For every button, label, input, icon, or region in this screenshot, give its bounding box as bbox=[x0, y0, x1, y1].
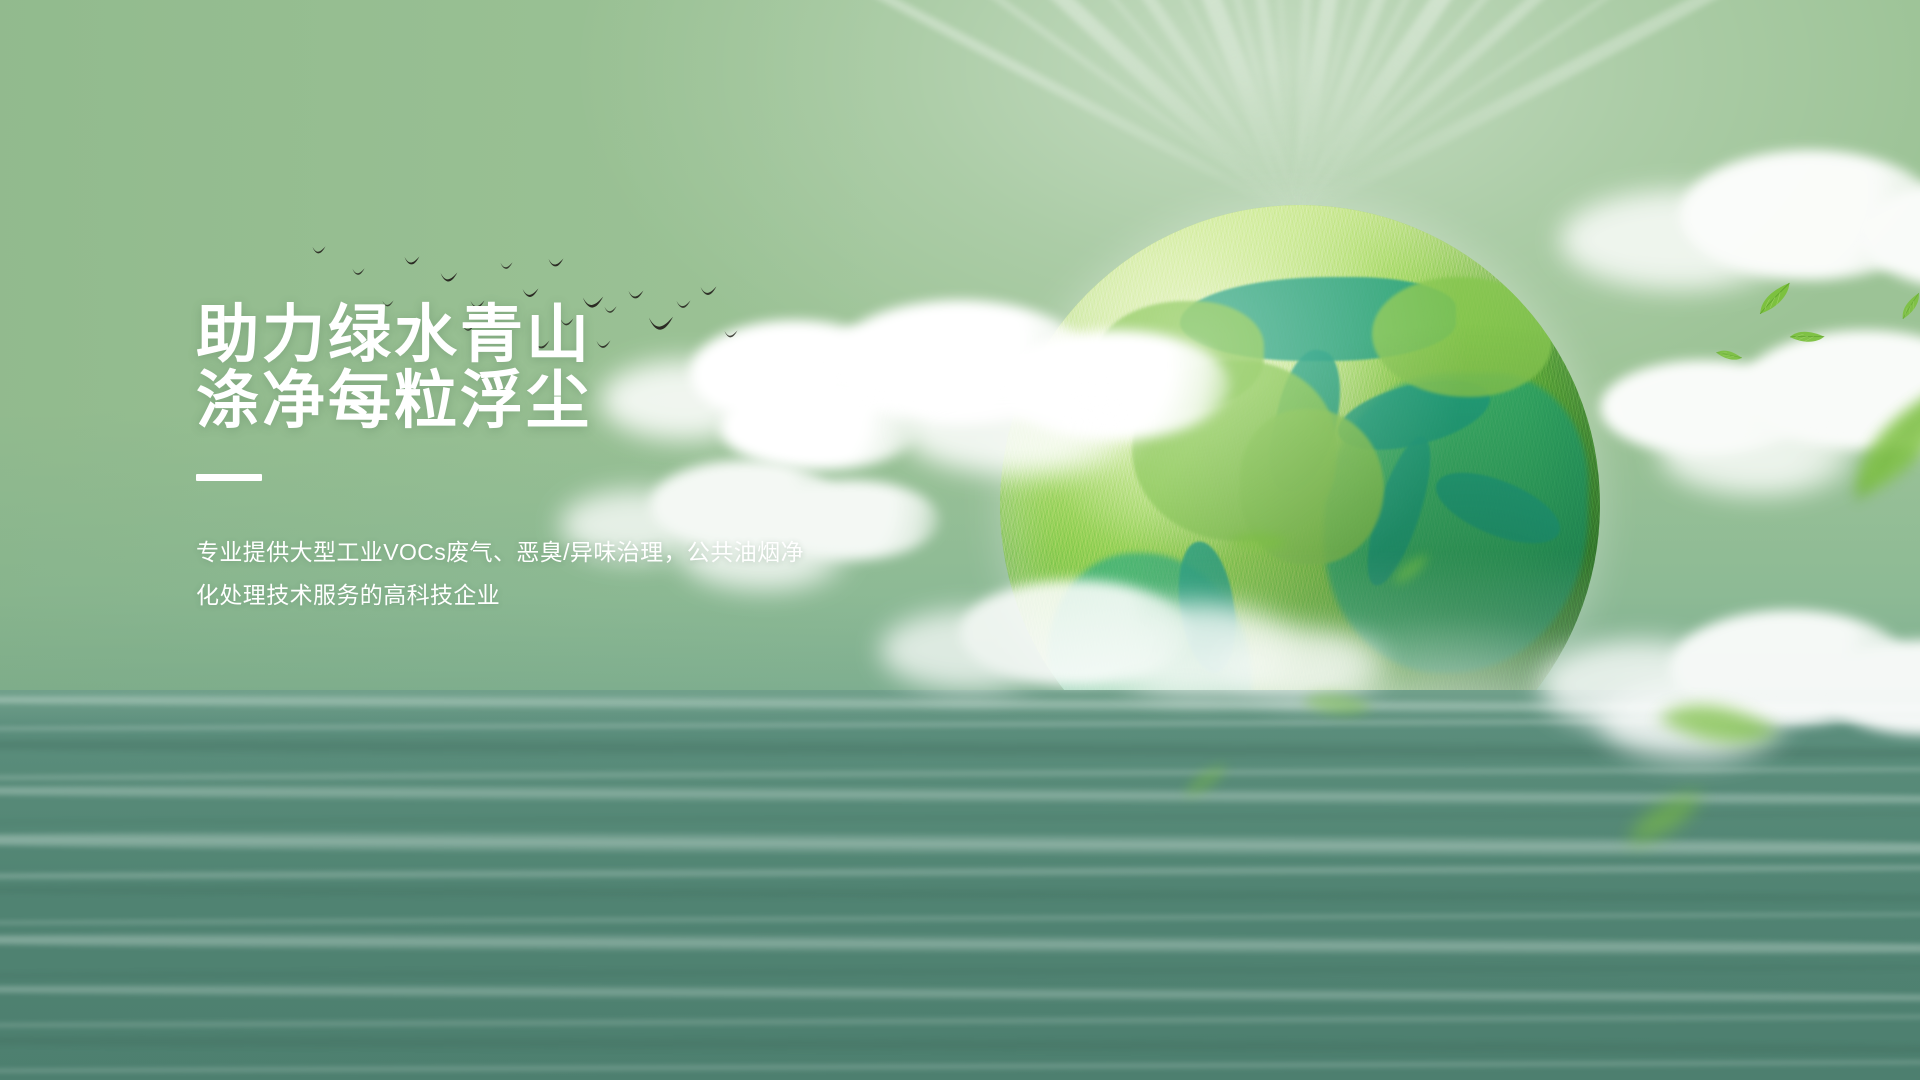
headline-line-1: 助力绿水青山 bbox=[196, 302, 896, 368]
sun-ray bbox=[946, 0, 1300, 218]
sun-ray bbox=[1021, 0, 1298, 216]
water-ripple bbox=[0, 881, 1920, 907]
title-divider bbox=[196, 474, 262, 481]
water-ripple bbox=[0, 981, 1920, 1006]
water-ripple bbox=[0, 733, 1920, 765]
water-ripple bbox=[0, 909, 1920, 928]
bird-icon bbox=[352, 268, 365, 276]
water-ripple bbox=[0, 929, 1920, 959]
sun-ray bbox=[1254, 0, 1297, 215]
subtitle-line-2: 化处理技术服务的高科技企业 bbox=[196, 574, 836, 617]
bird-icon bbox=[312, 246, 326, 255]
water-ripple bbox=[0, 781, 1920, 809]
sun-ray bbox=[1291, 0, 1779, 219]
water-ripple bbox=[0, 1031, 1920, 1059]
bird-icon bbox=[404, 256, 420, 266]
bird-icon bbox=[522, 288, 539, 299]
bird-icon bbox=[500, 262, 513, 270]
sun-ray bbox=[1289, 0, 1511, 217]
headline-line-2: 涤净每粒浮尘 bbox=[196, 368, 896, 434]
sun-ray bbox=[1077, 0, 1304, 218]
cloud-puff bbox=[1680, 150, 1920, 280]
water-ripple bbox=[0, 691, 1920, 717]
sun-ray bbox=[760, 0, 1297, 218]
bird-icon bbox=[440, 272, 458, 283]
page-title: 助力绿水青山 涤净每粒浮尘 bbox=[196, 302, 896, 434]
water-ripple bbox=[0, 861, 1920, 883]
subtitle-line-1: 专业提供大型工业VOCs废气、恶臭/异味治理，公共油烟净 bbox=[196, 531, 836, 574]
bird-icon bbox=[628, 290, 644, 300]
sun-ray bbox=[819, 0, 1300, 221]
leaf-icon bbox=[1715, 344, 1743, 366]
leaf-icon bbox=[1895, 292, 1920, 321]
sun-ray bbox=[1288, 0, 1647, 220]
water-reflection-icon bbox=[0, 690, 1920, 1080]
cloud-puff bbox=[1860, 180, 1920, 290]
sun-ray bbox=[1287, 0, 1390, 216]
water-ripple bbox=[0, 961, 1920, 982]
banner-subtitle: 专业提供大型工业VOCs废气、恶臭/异味治理，公共油烟净 化处理技术服务的高科技… bbox=[196, 531, 836, 617]
water-ripple bbox=[0, 715, 1920, 734]
hero-banner: 助力绿水青山 涤净每粒浮尘 专业提供大型工业VOCs废气、恶臭/异味治理，公共油… bbox=[0, 0, 1920, 1080]
water-ripple bbox=[0, 1057, 1920, 1076]
sun-ray bbox=[1292, 0, 1446, 216]
sun-ray bbox=[1291, 0, 1329, 215]
leaf-icon bbox=[1825, 375, 1920, 508]
sun-ray bbox=[695, 0, 1297, 219]
sun-ray bbox=[889, 0, 1297, 217]
leaf-icon bbox=[1789, 325, 1826, 349]
bird-icon bbox=[700, 286, 717, 297]
water-ripple bbox=[0, 763, 1920, 784]
water-ripple bbox=[0, 1011, 1920, 1031]
leaf-icon bbox=[1752, 281, 1797, 316]
cloud-puff bbox=[1600, 360, 1810, 455]
banner-copy: 助力绿水青山 涤净每粒浮尘 专业提供大型工业VOCs废气、恶臭/异味治理，公共油… bbox=[196, 302, 896, 617]
sun-ray bbox=[1292, 0, 1570, 217]
sun-ray bbox=[1293, 0, 1838, 217]
bird-icon bbox=[548, 258, 564, 268]
sun-ray bbox=[1202, 0, 1300, 216]
sun-ray bbox=[1292, 0, 1896, 221]
sun-ray bbox=[1143, 0, 1298, 216]
sun-ray bbox=[1292, 0, 1711, 218]
